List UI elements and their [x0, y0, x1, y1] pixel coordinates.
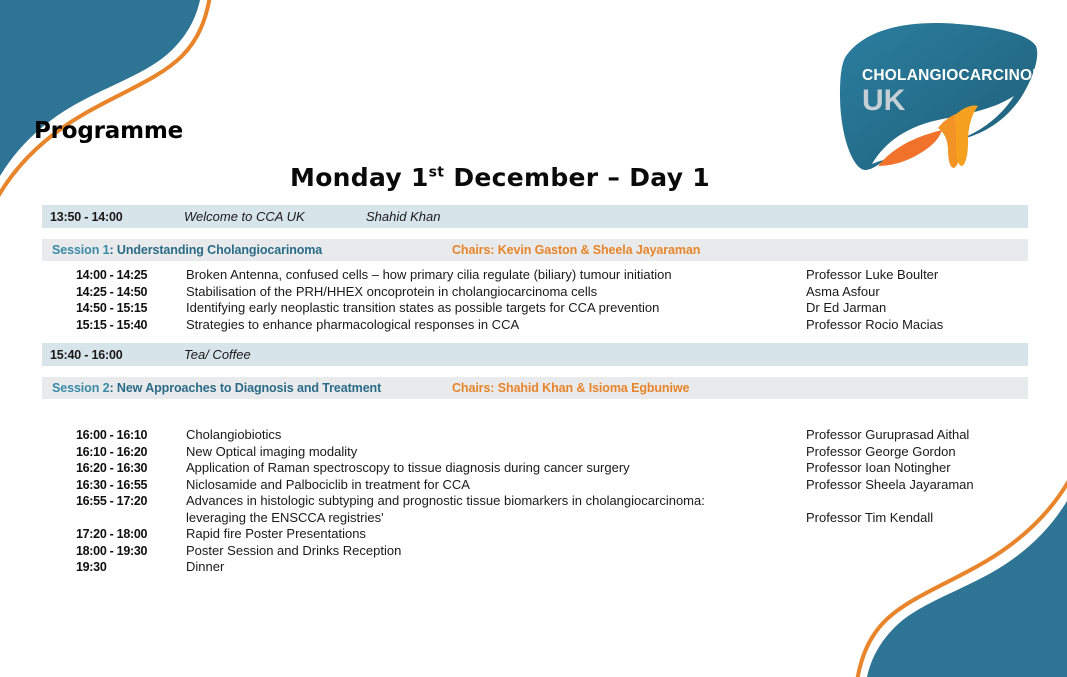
- talk-time: 18:00 - 19:30: [42, 543, 186, 560]
- talk-time: 17:20 - 18:00: [42, 526, 186, 543]
- day-title-prefix: Monday 1: [290, 163, 429, 192]
- table-row: 16:55 - 17:20 Advances in histologic sub…: [42, 493, 1028, 510]
- talk-title: Dinner: [186, 559, 806, 576]
- session-2-separator: :: [109, 381, 116, 395]
- talk-speaker-continuation: Professor Tim Kendall: [806, 510, 1028, 527]
- talk-time: 16:10 - 16:20: [42, 444, 186, 461]
- table-row: 16:00 - 16:10 Cholangiobiotics Professor…: [42, 427, 1028, 444]
- logo-title-text: CHOLANGIOCARCINOMA: [862, 67, 1040, 84]
- table-row: 18:00 - 19:30 Poster Session and Drinks …: [42, 543, 1028, 560]
- welcome-time: 13:50 - 14:00: [42, 210, 184, 224]
- table-row: 16:30 - 16:55 Niclosamide and Palbocicli…: [42, 477, 1028, 494]
- break-time: 15:40 - 16:00: [42, 348, 184, 362]
- teal-wave-shape: [0, 0, 200, 176]
- spacer: [42, 415, 1028, 421]
- talk-speaker: Asma Asfour: [806, 284, 1028, 301]
- session-2-number: Session 2: [52, 381, 109, 395]
- logo-uk-text: UK: [862, 84, 906, 117]
- day-title-suffix: December – Day 1: [444, 163, 710, 192]
- session-1-name: Understanding Cholangiocarinoma: [117, 243, 322, 257]
- talk-speaker: Professor Guruprasad Aithal: [806, 427, 1028, 444]
- talk-title: Stabilisation of the PRH/HHEX oncoprotei…: [186, 284, 806, 301]
- talk-time: 14:25 - 14:50: [42, 284, 186, 301]
- session-1-header: Session 1: Understanding Cholangiocarino…: [42, 239, 1028, 261]
- page-title: Programme: [34, 118, 183, 144]
- table-row: 15:15 - 15:40 Strategies to enhance phar…: [42, 317, 1028, 334]
- programme-page: CHOLANGIOCARCINOMA UK Programme Monday 1…: [0, 0, 1067, 677]
- talk-speaker: Professor George Gordon: [806, 444, 1028, 461]
- talk-title: Poster Session and Drinks Reception: [186, 543, 806, 560]
- table-row: 19:30 Dinner: [42, 559, 1028, 576]
- talk-title: Application of Raman spectroscopy to tis…: [186, 460, 806, 477]
- talk-speaker: Professor Luke Boulter: [806, 267, 1028, 284]
- talk-speaker: Professor Ioan Notingher: [806, 460, 1028, 477]
- talk-time: 14:50 - 15:15: [42, 300, 186, 317]
- welcome-row: 13:50 - 14:00 Welcome to CCA UK Shahid K…: [42, 205, 1028, 228]
- session-2-title: Session 2: New Approaches to Diagnosis a…: [42, 381, 452, 395]
- session-1-talks: 14:00 - 14:25 Broken Antenna, confused c…: [42, 267, 1028, 333]
- welcome-description: Welcome to CCA UK: [184, 209, 366, 224]
- session-2-chairs: Chairs: Shahid Khan & Isioma Egbuniwe: [452, 381, 689, 395]
- talk-time: 16:30 - 16:55: [42, 477, 186, 494]
- talk-title: Identifying early neoplastic transition …: [186, 300, 806, 317]
- talk-time: 16:20 - 16:30: [42, 460, 186, 477]
- talk-time: 14:00 - 14:25: [42, 267, 186, 284]
- table-row: 14:25 - 14:50 Stabilisation of the PRH/H…: [42, 284, 1028, 301]
- talk-title: Rapid fire Poster Presentations: [186, 526, 806, 543]
- talk-time: 15:15 - 15:40: [42, 317, 186, 334]
- schedule-table: 13:50 - 14:00 Welcome to CCA UK Shahid K…: [42, 205, 1028, 576]
- talk-speaker: Dr Ed Jarman: [806, 300, 1028, 317]
- talk-speaker: Professor Sheela Jayaraman: [806, 477, 1028, 494]
- talk-title: New Optical imaging modality: [186, 444, 806, 461]
- talk-time: 16:55 - 17:20: [42, 493, 186, 510]
- table-row: 17:20 - 18:00 Rapid fire Poster Presenta…: [42, 526, 1028, 543]
- table-row: 16:10 - 16:20 New Optical imaging modali…: [42, 444, 1028, 461]
- break-row: 15:40 - 16:00 Tea/ Coffee: [42, 343, 1028, 366]
- talk-time: 19:30: [42, 559, 186, 576]
- talk-title: Cholangiobiotics: [186, 427, 806, 444]
- talk-title: Advances in histologic subtyping and pro…: [186, 493, 806, 510]
- talk-title: Broken Antenna, confused cells – how pri…: [186, 267, 806, 284]
- session-1-chairs: Chairs: Kevin Gaston & Sheela Jayaraman: [452, 243, 700, 257]
- day-title-ordinal: st: [429, 165, 445, 181]
- table-row: 16:20 - 16:30 Application of Raman spect…: [42, 460, 1028, 477]
- table-row: 14:00 - 14:25 Broken Antenna, confused c…: [42, 267, 1028, 284]
- talk-title-continuation: leveraging the ENSCCA registries': [186, 510, 806, 527]
- welcome-speaker: Shahid Khan: [366, 209, 440, 224]
- break-description: Tea/ Coffee: [184, 347, 366, 362]
- session-2-name: New Approaches to Diagnosis and Treatmen…: [117, 381, 381, 395]
- talk-title: Strategies to enhance pharmacological re…: [186, 317, 806, 334]
- table-row: 14:50 - 15:15 Identifying early neoplast…: [42, 300, 1028, 317]
- session-1-title: Session 1: Understanding Cholangiocarino…: [42, 243, 452, 257]
- spacer: [42, 405, 1028, 415]
- session-2-header: Session 2: New Approaches to Diagnosis a…: [42, 377, 1028, 399]
- session-1-separator: :: [109, 243, 116, 257]
- day-title: Monday 1st December – Day 1: [0, 163, 1000, 192]
- talk-speaker: Professor Rocio Macias: [806, 317, 1028, 334]
- talk-title: Niclosamide and Palbociclib in treatment…: [186, 477, 806, 494]
- session-1-number: Session 1: [52, 243, 109, 257]
- spacer: [42, 333, 1028, 343]
- table-row: leveraging the ENSCCA registries' Profes…: [42, 510, 1028, 527]
- session-2-talks: 16:00 - 16:10 Cholangiobiotics Professor…: [42, 427, 1028, 576]
- talk-time: 16:00 - 16:10: [42, 427, 186, 444]
